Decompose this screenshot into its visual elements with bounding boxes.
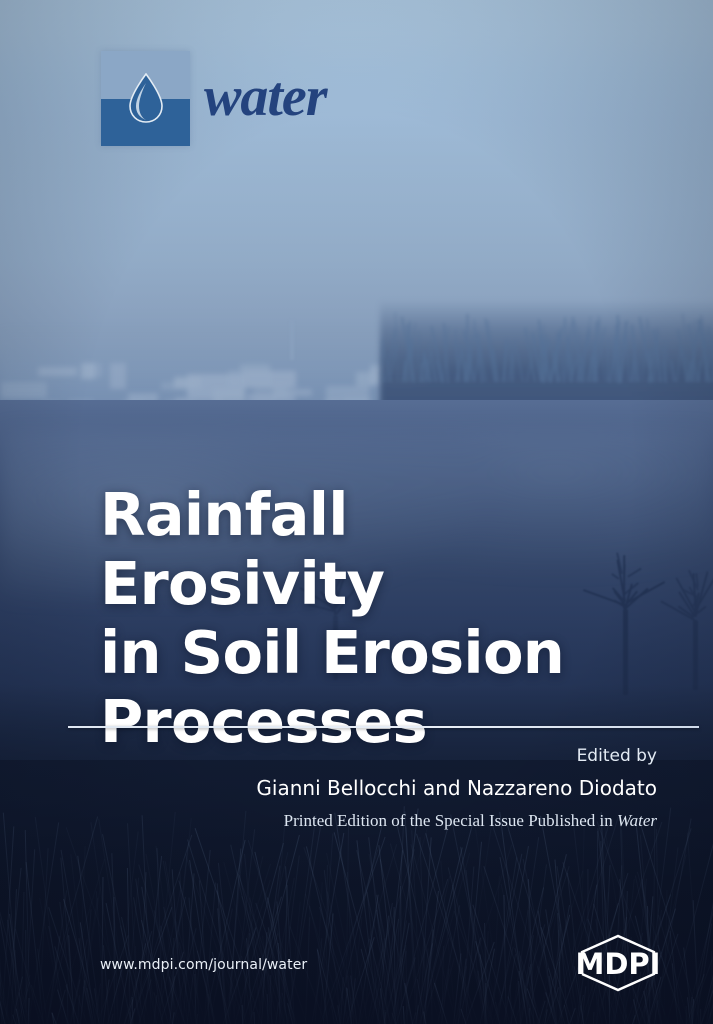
water-droplet-icon bbox=[129, 73, 163, 123]
journal-wordmark: water bbox=[204, 69, 327, 125]
credits-block: Edited by Gianni Bellocchi and Nazzareno… bbox=[256, 744, 657, 834]
journal-logo: water bbox=[101, 51, 327, 146]
journal-url[interactable]: www.mdpi.com/journal/water bbox=[100, 957, 307, 973]
edited-by-label: Edited by bbox=[256, 744, 657, 770]
page-title: Rainfall Erosivity in Soil Erosion Proce… bbox=[100, 480, 643, 756]
printed-edition-prefix: Printed Edition of the Special Issue Pub… bbox=[284, 811, 613, 830]
book-cover: water Rainfall Erosivity in Soil Erosion… bbox=[0, 0, 713, 1024]
title-block: Rainfall Erosivity in Soil Erosion Proce… bbox=[100, 480, 643, 756]
mdpi-wordmark: MDPI bbox=[576, 947, 661, 981]
title-divider-rule bbox=[68, 726, 699, 728]
editor-names: Gianni Bellocchi and Nazzareno Diodato bbox=[256, 773, 657, 804]
mdpi-hexagon-logo: MDPI bbox=[562, 934, 674, 992]
title-line-1: Rainfall Erosivity bbox=[100, 480, 643, 618]
title-line-2: in Soil Erosion bbox=[100, 618, 643, 687]
printed-edition-journal: Water bbox=[617, 811, 657, 830]
printed-edition-note: Printed Edition of the Special Issue Pub… bbox=[256, 808, 657, 834]
water-drop-square-logo bbox=[101, 51, 190, 146]
